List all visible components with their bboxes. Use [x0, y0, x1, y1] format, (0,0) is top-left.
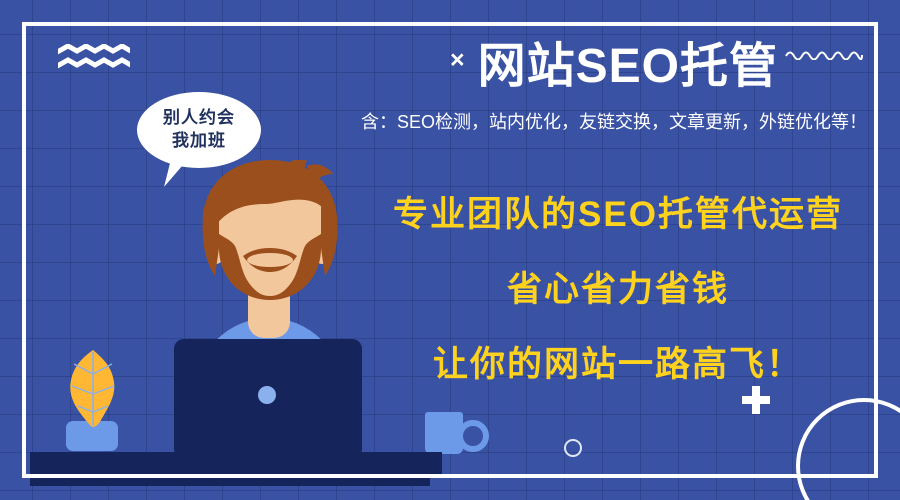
speech-bubble-line-2: 我加班: [172, 130, 226, 153]
double-wave-icon: [58, 44, 130, 70]
laptop-logo-icon: [258, 386, 276, 404]
page-subtitle: 含：SEO检测，站内优化，友链交换，文章更新，外链优化等！: [340, 111, 888, 134]
coffee-mug: [425, 412, 463, 454]
slogan-line-3: 让你的网站一路高飞！: [368, 336, 868, 387]
slogan-block: 专业团队的SEO托管代运营 省心省力省钱 让你的网站一路高飞！: [368, 186, 868, 387]
desk-base: [30, 474, 430, 486]
laptop: [174, 339, 362, 459]
slogan-line-1: 专业团队的SEO托管代运营: [368, 186, 868, 237]
page-title-text: 网站SEO托管: [478, 40, 778, 93]
plus-icon: [742, 386, 770, 414]
speech-bubble: 别人约会 我加班: [137, 92, 261, 168]
slogan-line-2: 省心省力省钱: [368, 261, 868, 312]
thin-wave-icon: [785, 48, 863, 60]
plant-leaf-icon: [60, 348, 126, 428]
speech-bubble-line-1: 别人约会: [163, 107, 235, 130]
x-mark-icon: ×: [450, 46, 466, 74]
circle-outline-icon: [564, 439, 582, 457]
seo-promo-banner: 别人约会 我加班 ×网站SEO托管 含：SEO检测，站内优化，友链交换，文章更新…: [0, 0, 900, 500]
person-head: [185, 160, 355, 320]
